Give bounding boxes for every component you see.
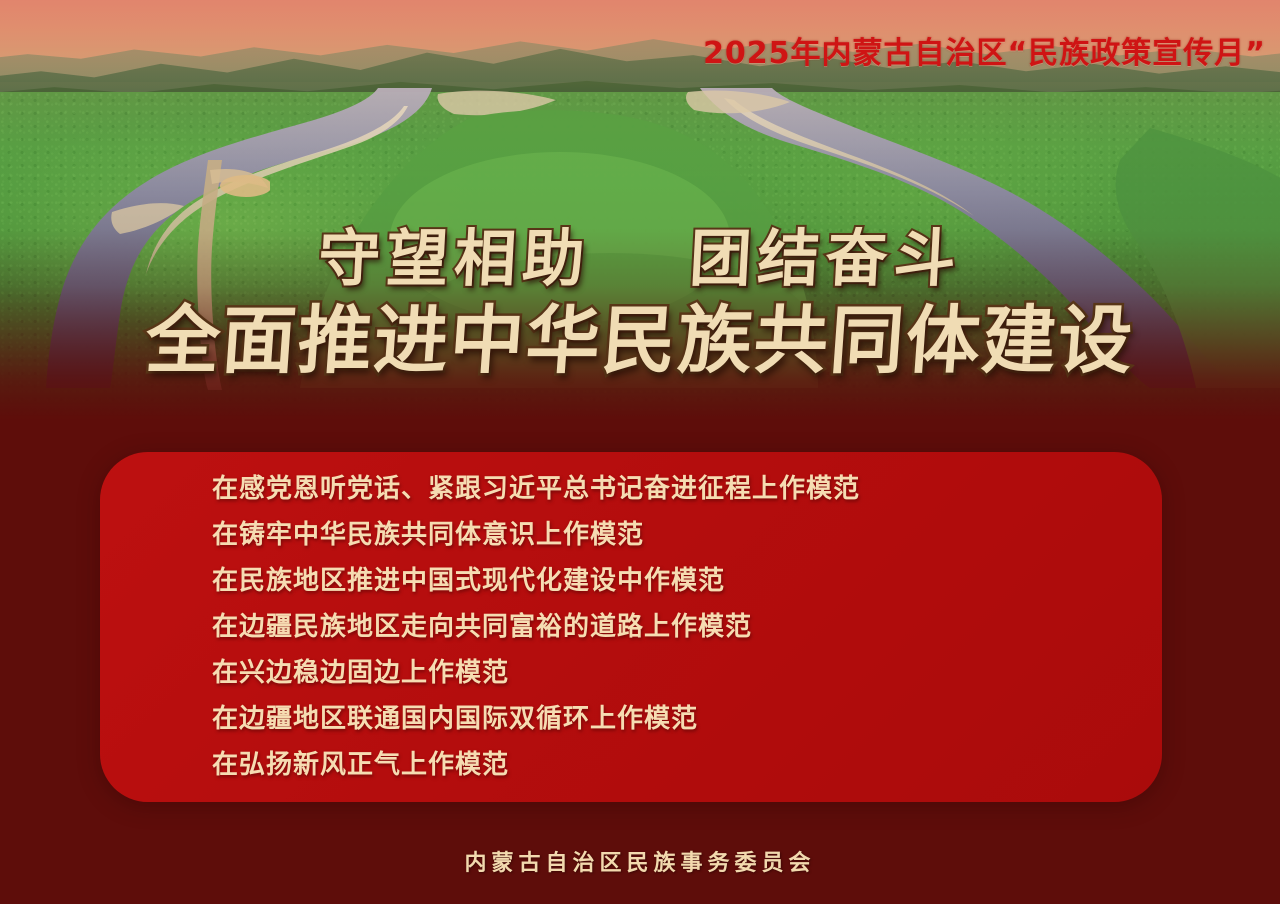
slogan-item: 在感党恩听党话、紧跟习近平总书记奋进征程上作模范	[212, 466, 1122, 512]
slogan-item: 在弘扬新风正气上作模范	[212, 742, 1122, 788]
slogan-item: 在铸牢中华民族共同体意识上作模范	[212, 512, 1122, 558]
slogan-item: 在边疆地区联通国内国际双循环上作模范	[212, 696, 1122, 742]
main-title-part-2: 团结奋斗	[688, 222, 964, 295]
slogan-item: 在边疆民族地区走向共同富裕的道路上作模范	[212, 604, 1122, 650]
footer: 内蒙古自治区民族事务委员会	[0, 845, 1280, 877]
slogan-item: 在兴边稳边固边上作模范	[212, 650, 1122, 696]
main-title-line-2: 全面推进中华民族共同体建设	[0, 304, 1280, 378]
poster-root: 2025年内蒙古自治区“民族政策宣传月” 守望相助 团结奋斗 全面推进中华民族共…	[0, 0, 1280, 904]
main-title-part-1: 守望相助	[317, 222, 593, 295]
slogan-list: 在感党恩听党话、紧跟习近平总书记奋进征程上作模范在铸牢中华民族共同体意识上作模范…	[212, 466, 1122, 788]
main-title-line-1: 守望相助 团结奋斗	[0, 228, 1280, 290]
main-title-block: 守望相助 团结奋斗 全面推进中华民族共同体建设	[0, 228, 1280, 378]
slogan-item: 在民族地区推进中国式现代化建设中作模范	[212, 558, 1122, 604]
campaign-title: 2025年内蒙古自治区“民族政策宣传月”	[703, 28, 1266, 72]
issuing-organization: 内蒙古自治区民族事务委员会	[464, 851, 815, 876]
slogan-card: 在感党恩听党话、紧跟习近平总书记奋进征程上作模范在铸牢中华民族共同体意识上作模范…	[100, 452, 1162, 802]
